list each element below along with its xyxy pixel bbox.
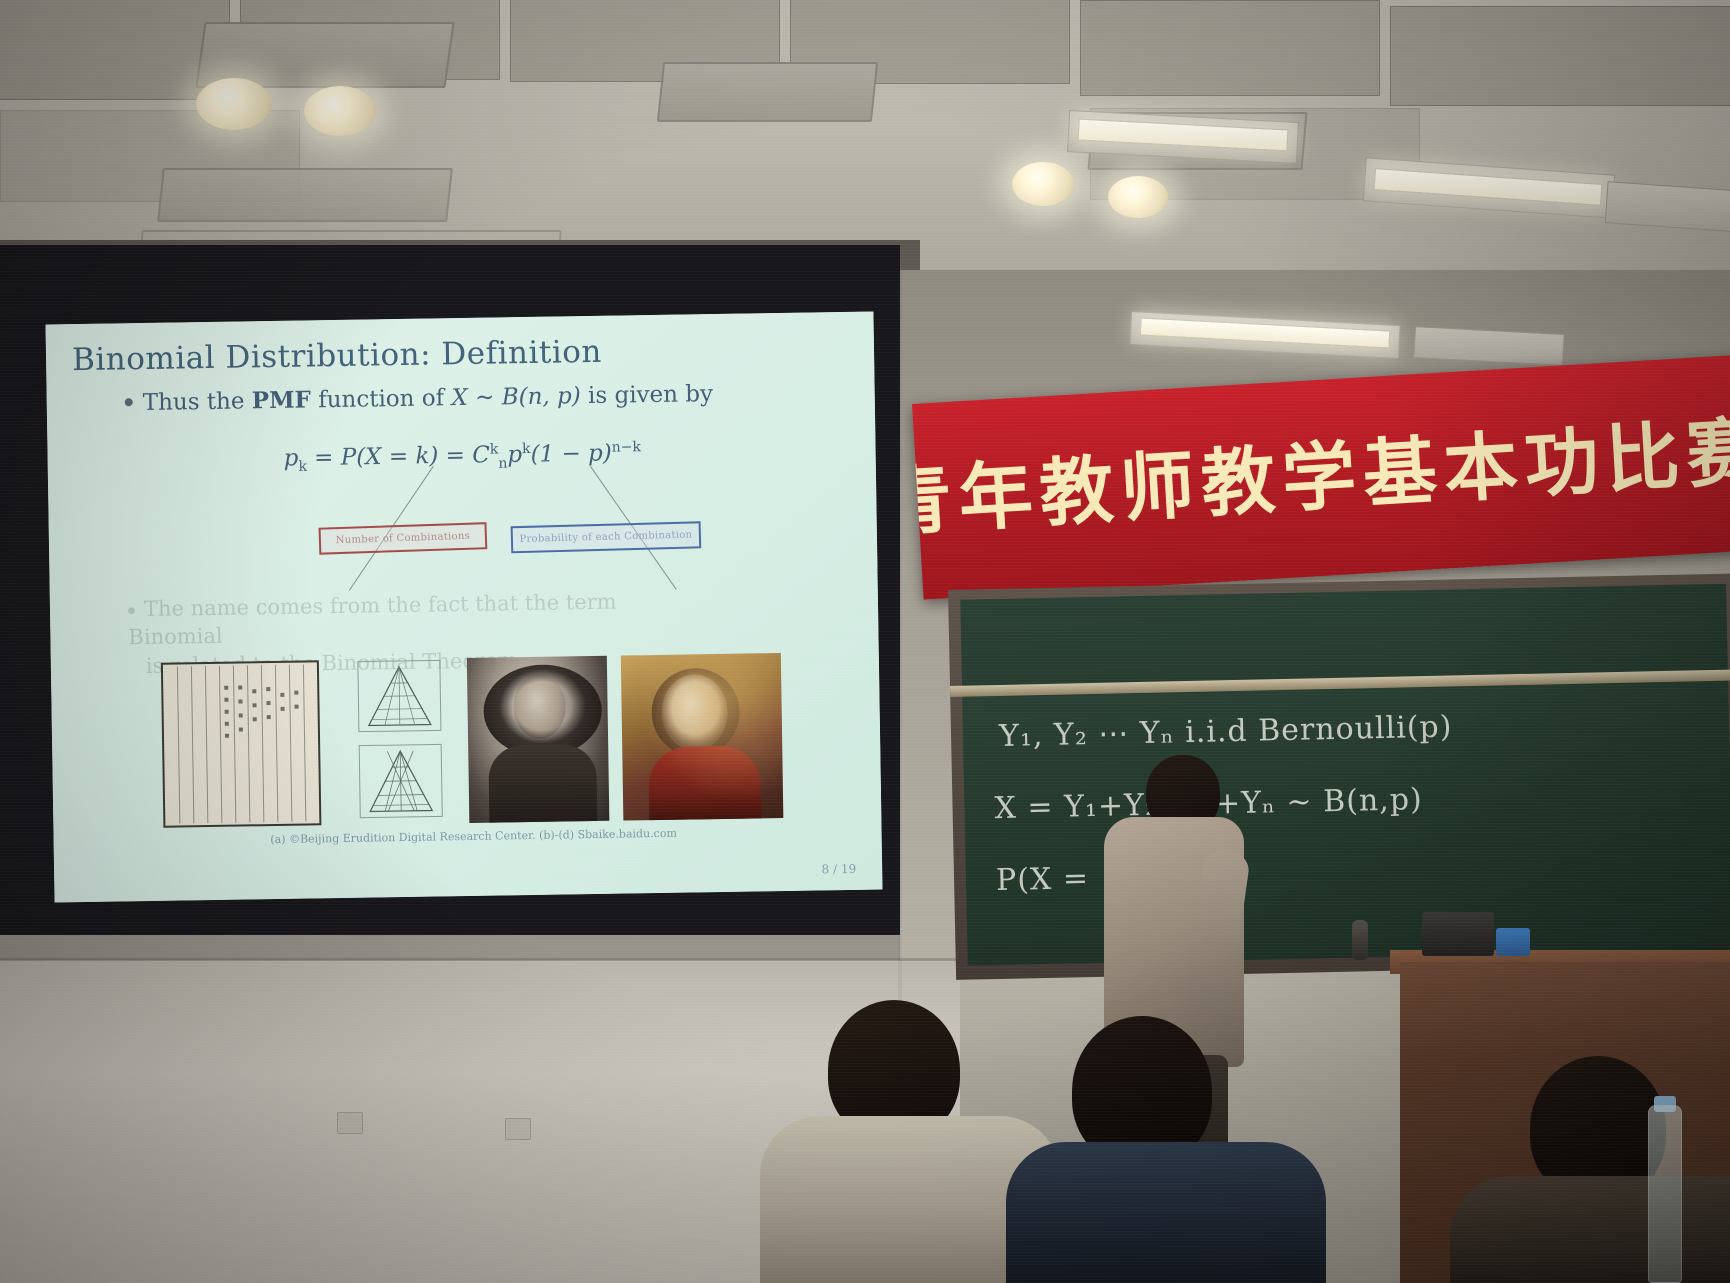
light-fixture-frame — [1605, 181, 1730, 233]
blackboard-line-1: Y₁, Y₂ ⋯ Yₙ i.i.d Bernoulli(p) — [999, 709, 1453, 753]
event-banner-text: 青年教师教学基本功比赛 — [912, 391, 1730, 551]
ceiling-lamp — [196, 78, 272, 130]
ceiling-lamp — [1108, 176, 1168, 218]
ceiling-lamp — [1012, 162, 1074, 206]
formula-sup-nk: n−k — [612, 439, 641, 455]
wall-seam — [0, 958, 960, 961]
projection-screen-frame: Binomial Distribution: Definition Thus t… — [0, 245, 900, 935]
water-bottle — [1648, 1105, 1682, 1283]
label-box-blue: Probability of each Combination — [511, 521, 702, 553]
figure-pascal-portrait — [467, 656, 610, 823]
audience-member — [1020, 1016, 1320, 1283]
audience-member — [1470, 1056, 1730, 1283]
bullet2-line1: The name comes from the fact that the te… — [128, 590, 617, 650]
figure-pascal-triangles — [346, 658, 459, 825]
bullet1-math: X ∼ B(n, p) — [451, 383, 581, 411]
blackboard-lower: Y₁, Y₂ ⋯ Yₙ i.i.d Bernoulli(p) X = Y₁+Y₂… — [962, 682, 1730, 966]
ceiling-light-housing — [157, 168, 453, 222]
label-red-text: Number of Combinations — [336, 531, 471, 546]
ceiling-light-housing — [657, 62, 878, 122]
label-blue-text: Probability of each Combination — [519, 530, 692, 546]
figure-chinese-book — [161, 660, 322, 827]
slide-page-number: 8 / 19 — [821, 862, 856, 877]
blackboard-line-3: P(X = — [996, 861, 1090, 898]
bullet1-mid: function of — [318, 385, 444, 413]
bullet-dot-icon — [128, 607, 135, 614]
label-box-red: Number of Combinations — [319, 522, 488, 555]
formula-p: p — [283, 445, 298, 471]
bullet1-bold: PMF — [252, 386, 312, 414]
bullet1-post: is given by — [588, 381, 713, 409]
wall-socket — [337, 1112, 363, 1134]
audience-shoulders — [1006, 1142, 1326, 1283]
formula-p2: p — [507, 442, 522, 468]
formula-sub-n: n — [498, 456, 507, 472]
lecture-hall-photo: Binomial Distribution: Definition Thus t… — [0, 0, 1730, 1283]
bullet-dot-icon — [125, 398, 133, 406]
projected-slide: Binomial Distribution: Definition Thus t… — [46, 312, 883, 903]
blackboard-frame: Y₁, Y₂ ⋯ Yₙ i.i.d Bernoulli(p) X = Y₁+Y₂… — [948, 573, 1730, 979]
microphone-icon — [1352, 920, 1368, 960]
formula-tail: (1 − p) — [530, 440, 612, 467]
bullet1-pre: Thus the — [143, 388, 245, 416]
figure-newton-portrait — [621, 653, 784, 820]
wall-socket — [505, 1118, 531, 1140]
ceiling-lamp — [304, 86, 376, 136]
formula-sup-k2: k — [522, 441, 531, 457]
blue-box-icon — [1496, 928, 1530, 956]
slide-figure-strip — [161, 653, 784, 828]
formula-mid: = P(X = k) = C — [307, 442, 490, 471]
formula-sup-k: k — [490, 441, 499, 457]
laptop-icon — [1422, 912, 1494, 956]
pmf-formula: pk = P(X = k) = Cknpk(1 − p)n−k — [283, 439, 641, 475]
audience-shoulders — [1450, 1176, 1730, 1283]
